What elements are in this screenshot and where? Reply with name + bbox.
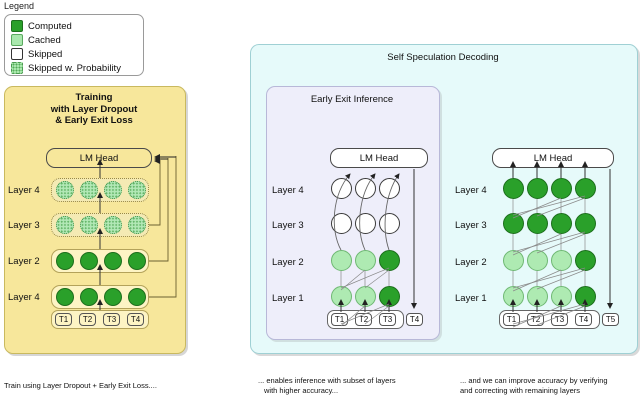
verification-node-l2-t4 bbox=[575, 250, 596, 271]
early-exit-node-l1-t2 bbox=[355, 286, 376, 307]
early-exit-node-l3-t2 bbox=[355, 213, 376, 234]
training-token-t4[interactable]: T4 bbox=[127, 313, 144, 326]
training-title-line1: Training bbox=[4, 92, 184, 104]
verification-node-l3-t3 bbox=[551, 213, 572, 234]
verification-node-l1-t3 bbox=[551, 286, 572, 307]
early-exit-node-l2-t2 bbox=[355, 250, 376, 271]
training-node-l4-t2 bbox=[80, 181, 98, 199]
early-exit-token-t1[interactable]: T1 bbox=[331, 313, 348, 326]
early-exit-caption-line1: ... enables inference with subset of lay… bbox=[258, 376, 396, 386]
training-layer-label-2: Layer 2 bbox=[8, 256, 40, 267]
training-panel-title: Training with Layer Dropout & Early Exit… bbox=[4, 92, 184, 127]
cached-swatch-icon bbox=[11, 34, 23, 46]
training-node-l3-t1 bbox=[56, 216, 74, 234]
early-exit-layer-label-4: Layer 4 bbox=[272, 185, 304, 196]
training-node-l1-t3 bbox=[104, 288, 122, 306]
verification-layer-label-3: Layer 3 bbox=[455, 220, 487, 231]
training-lm-head[interactable]: LM Head bbox=[46, 148, 152, 168]
verification-token-t2[interactable]: T2 bbox=[527, 313, 544, 326]
training-node-l2-t1 bbox=[56, 252, 74, 270]
verification-token-t3[interactable]: T3 bbox=[551, 313, 568, 326]
training-node-l1-t2 bbox=[80, 288, 98, 306]
early-exit-lm-head[interactable]: LM Head bbox=[330, 148, 428, 168]
training-node-l1-t4 bbox=[128, 288, 146, 306]
early-exit-node-l4-t1 bbox=[331, 178, 352, 199]
early-exit-node-l4-t2 bbox=[355, 178, 376, 199]
verification-caption-line2: and correcting with remaining layers bbox=[460, 386, 608, 396]
early-exit-token-t3[interactable]: T3 bbox=[379, 313, 396, 326]
verification-node-l1-t2 bbox=[527, 286, 548, 307]
training-title-line2: with Layer Dropout bbox=[4, 104, 184, 116]
early-exit-node-l4-t3 bbox=[379, 178, 400, 199]
verification-caption-line1: ... and we can improve accuracy by verif… bbox=[460, 376, 608, 386]
training-node-l3-t4 bbox=[128, 216, 146, 234]
verification-layer-label-1: Layer 1 bbox=[455, 293, 487, 304]
verification-node-l2-t2 bbox=[527, 250, 548, 271]
legend-label-computed: Computed bbox=[28, 21, 72, 32]
legend-label-cached: Cached bbox=[28, 35, 61, 46]
verification-layer-label-2: Layer 2 bbox=[455, 257, 487, 268]
training-token-t1[interactable]: T1 bbox=[55, 313, 72, 326]
training-node-l1-t1 bbox=[56, 288, 74, 306]
verification-node-l3-t2 bbox=[527, 213, 548, 234]
training-caption: Train using Layer Dropout + Early Exit L… bbox=[4, 381, 157, 391]
verification-layer-label-4: Layer 4 bbox=[455, 185, 487, 196]
early-exit-inference-title: Early Exit Inference bbox=[266, 94, 438, 105]
training-node-l2-t3 bbox=[104, 252, 122, 270]
early-exit-node-l3-t1 bbox=[331, 213, 352, 234]
verification-node-l3-t4 bbox=[575, 213, 596, 234]
legend-item-computed: Computed bbox=[11, 19, 137, 33]
training-token-t2[interactable]: T2 bbox=[79, 313, 96, 326]
early-exit-layer-label-3: Layer 3 bbox=[272, 220, 304, 231]
verification-node-l4-t3 bbox=[551, 178, 572, 199]
verification-node-l1-t1 bbox=[503, 286, 524, 307]
verification-node-l2-t3 bbox=[551, 250, 572, 271]
skipped-swatch-icon bbox=[11, 48, 23, 60]
verification-node-l1-t4 bbox=[575, 286, 596, 307]
early-exit-node-l2-t3 bbox=[379, 250, 400, 271]
training-node-l2-t4 bbox=[128, 252, 146, 270]
training-node-l4-t3 bbox=[104, 181, 122, 199]
early-exit-node-l3-t3 bbox=[379, 213, 400, 234]
early-exit-node-l2-t1 bbox=[331, 250, 352, 271]
early-exit-layer-label-1: Layer 1 bbox=[272, 293, 304, 304]
early-exit-node-l1-t3 bbox=[379, 286, 400, 307]
legend-item-skipped-probability: Skipped w. Probability bbox=[11, 61, 137, 75]
training-node-l3-t2 bbox=[80, 216, 98, 234]
early-exit-caption-line2: with higher accuracy... bbox=[264, 386, 396, 396]
computed-swatch-icon bbox=[11, 20, 23, 32]
skipped-probability-swatch-icon bbox=[11, 62, 23, 74]
training-layer-label-1: Layer 4 bbox=[8, 292, 40, 303]
legend-item-skipped: Skipped bbox=[11, 47, 137, 61]
self-speculation-decoding-title: Self Speculation Decoding bbox=[250, 52, 636, 63]
training-node-l4-t1 bbox=[56, 181, 74, 199]
verification-caption: ... and we can improve accuracy by verif… bbox=[460, 376, 608, 396]
verification-node-l4-t1 bbox=[503, 178, 524, 199]
legend-label-skipped-probability: Skipped w. Probability bbox=[28, 63, 121, 74]
training-node-l4-t4 bbox=[128, 181, 146, 199]
training-layer-label-4: Layer 4 bbox=[8, 185, 40, 196]
verification-node-l4-t4 bbox=[575, 178, 596, 199]
training-token-t3[interactable]: T3 bbox=[103, 313, 120, 326]
early-exit-token-t4[interactable]: T4 bbox=[406, 313, 423, 326]
verification-token-t4[interactable]: T4 bbox=[575, 313, 592, 326]
early-exit-caption: ... enables inference with subset of lay… bbox=[258, 376, 396, 396]
training-node-l2-t2 bbox=[80, 252, 98, 270]
early-exit-token-t2[interactable]: T2 bbox=[355, 313, 372, 326]
legend-title: Legend bbox=[4, 1, 34, 11]
verification-token-t1[interactable]: T1 bbox=[503, 313, 520, 326]
verification-node-l2-t1 bbox=[503, 250, 524, 271]
early-exit-node-l1-t1 bbox=[331, 286, 352, 307]
verification-node-l4-t2 bbox=[527, 178, 548, 199]
verification-lm-head[interactable]: LM Head bbox=[492, 148, 614, 168]
training-layer-label-3: Layer 3 bbox=[8, 220, 40, 231]
legend-label-skipped: Skipped bbox=[28, 49, 62, 60]
legend-item-cached: Cached bbox=[11, 33, 137, 47]
training-node-l3-t3 bbox=[104, 216, 122, 234]
legend-box: Computed Cached Skipped Skipped w. Proba… bbox=[4, 14, 144, 76]
verification-node-l3-t1 bbox=[503, 213, 524, 234]
early-exit-layer-label-2: Layer 2 bbox=[272, 257, 304, 268]
verification-token-t5[interactable]: T5 bbox=[602, 313, 619, 326]
training-title-line3: & Early Exit Loss bbox=[4, 115, 184, 127]
